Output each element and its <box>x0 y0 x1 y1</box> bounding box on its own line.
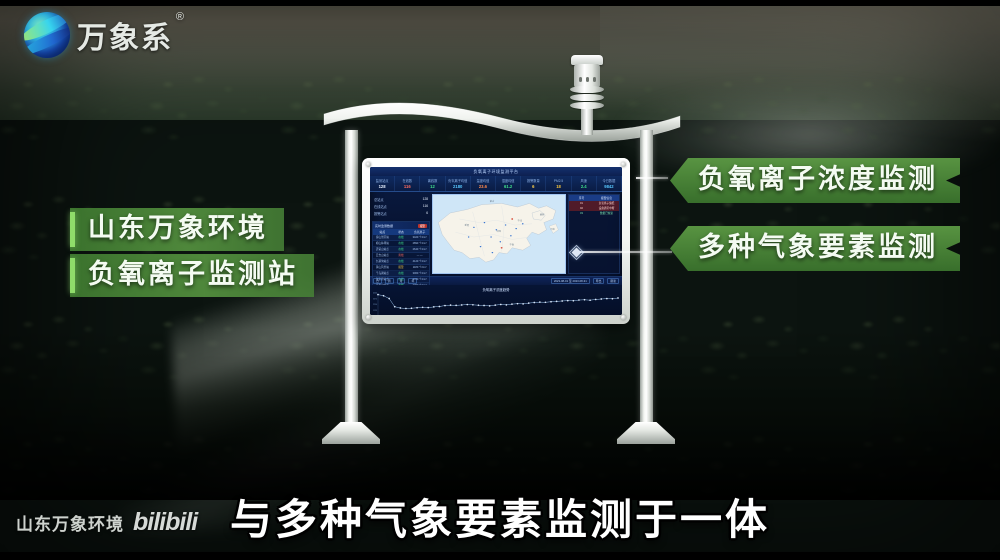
weather-sensor-icon <box>565 55 609 133</box>
range-button-month[interactable]: 月 <box>397 278 406 284</box>
table-cell: 离线 <box>392 253 411 258</box>
table-cell: 3420 个/cm³ <box>410 235 429 240</box>
date-range-display[interactable]: 2023-08-01 至 2023-08-31 <box>551 278 590 284</box>
alert-panel[interactable]: 序号报警信息 01负氧离子偏低02设备通讯中断03数据已恢复 <box>568 194 620 274</box>
kpi-value: 61.2 <box>504 184 512 189</box>
callout-right-1-text: 负氧离子浓度监测 <box>698 166 938 193</box>
kpi-label: 在线数 <box>403 178 413 183</box>
kpi-stat: PM2.518 <box>546 176 571 191</box>
svg-text:3375: 3375 <box>373 298 377 300</box>
callout-connector-top <box>636 177 668 179</box>
summary-metric-row: 在线站点116 <box>374 204 428 209</box>
svg-text:4500: 4500 <box>373 293 377 295</box>
table-cell: 在线 <box>392 259 411 264</box>
table-cell: 2890 个/cm³ <box>410 241 429 246</box>
range-button-week[interactable]: 周 <box>385 278 394 284</box>
callout-right-2-text: 多种气象要素监测 <box>698 234 938 261</box>
svg-text:2250: 2250 <box>373 304 377 306</box>
kpi-label: 湿度均值 <box>502 178 515 183</box>
kpi-label: 负氧离子均值 <box>448 178 467 183</box>
kpi-label: 报警数量 <box>527 178 540 183</box>
alert-cell: 03 <box>569 211 594 216</box>
sensor-vent <box>593 77 596 82</box>
callout-left-1-text: 山东万象环境 <box>88 215 268 242</box>
kpi-stat: 风速2.4 <box>572 176 597 191</box>
map-marker-node[interactable] <box>571 247 582 258</box>
table-cell: 在线 <box>392 271 411 276</box>
screw-icon <box>621 162 626 167</box>
bottom-shadow <box>0 330 1000 500</box>
table-cell: 千岛湖站点 <box>373 271 392 276</box>
kpi-value: 128 <box>379 184 386 189</box>
callout-right-1: 负氧离子浓度监测 <box>670 158 960 203</box>
table-cell: 九寨沟站点 <box>373 259 392 264</box>
kpi-stat: 负氧离子均值2180 <box>446 176 471 191</box>
callout-left-2: 负氧离子监测站 <box>70 254 314 297</box>
table-cell: 黄山风景站 <box>373 265 392 270</box>
table-cell: 3060 个/cm³ <box>410 271 429 276</box>
table-cell: 云台山站点 <box>373 253 392 258</box>
kpi-label: 监测站点 <box>376 178 389 183</box>
kpi-value: 6 <box>532 184 534 189</box>
kpi-stat: 今日数据9842 <box>597 176 622 191</box>
kpi-stat-bar: 监测站点128在线数116离线数12负氧离子均值2180温度均值23.6湿度均值… <box>370 176 622 192</box>
trend-chart[interactable]: 负氧离子浓度趋势 08-0108-0208-0308-0408-0508-060… <box>370 285 622 315</box>
trademark-symbol: ® <box>176 11 186 23</box>
sensor-vent <box>579 77 582 82</box>
kpi-stat: 在线数116 <box>395 176 420 191</box>
alert-row[interactable]: 03数据已恢复 <box>569 211 619 216</box>
sensor-stem <box>581 109 593 135</box>
sensor-body <box>574 64 600 88</box>
kpi-value: 12 <box>430 184 435 189</box>
table-cell: 泰山景区站 <box>373 235 392 240</box>
sensor-shield-ring <box>570 102 604 109</box>
kpi-label: 今日数据 <box>603 178 616 183</box>
summary-metric-row: 报警站点6 <box>374 211 428 216</box>
letterbox-top <box>0 0 1000 6</box>
table-cell: — — <box>410 253 429 258</box>
callout-accent-bar <box>70 258 75 293</box>
support-pole-right <box>640 130 653 430</box>
canopy-beam <box>322 96 682 152</box>
screw-icon <box>621 315 626 320</box>
callout-right-2: 多种气象要素监测 <box>670 226 960 271</box>
callout-connector-middle <box>580 251 672 253</box>
kpi-stat: 湿度均值61.2 <box>496 176 521 191</box>
station-table-title: 实时监测数据 <box>375 224 393 228</box>
export-button[interactable]: 导出 <box>593 278 605 284</box>
table-cell: 沂蒙山站点 <box>373 247 392 252</box>
watermark: 山东万象环境 bilibili <box>16 508 197 537</box>
table-cell: 4120 个/cm³ <box>410 259 429 264</box>
refresh-button[interactable]: 刷新 <box>607 278 619 284</box>
kpi-label: PM2.5 <box>554 179 563 183</box>
table-cell: 2640 个/cm³ <box>410 247 429 252</box>
kpi-value: 116 <box>404 184 411 189</box>
kpi-stat: 温度均值23.6 <box>471 176 496 191</box>
dashboard-title-bar: 负氧离子环境监测平台 <box>370 167 622 176</box>
bilibili-logo: bilibili <box>133 508 197 537</box>
kpi-value: 2.4 <box>581 184 587 189</box>
callout-left-1: 山东万象环境 <box>70 208 284 251</box>
kpi-label: 离线数 <box>428 178 438 183</box>
kpi-stat: 报警数量6 <box>521 176 546 191</box>
table-cell: 在线 <box>392 241 411 246</box>
callout-accent-bar <box>70 212 75 247</box>
dashboard-body: 总站点128在线站点116报警站点6 实时监测数据 报警 站点状态负氧离子 泰山… <box>370 192 622 276</box>
table-cell: 在线 <box>392 235 411 240</box>
callout-right-1-banner: 负氧离子浓度监测 <box>670 158 960 203</box>
video-frame: 万象系 ® <box>0 0 1000 560</box>
sensor-shield-ring <box>570 94 604 101</box>
sensor-shield-ring <box>570 86 604 93</box>
range-button-day[interactable]: 日 <box>373 278 382 284</box>
kpi-value: 18 <box>556 184 561 189</box>
globe-icon <box>24 12 70 58</box>
table-cell: 报警 <box>392 265 411 270</box>
kpi-value: 23.6 <box>479 184 487 189</box>
callout-left-2-text: 负氧离子监测站 <box>88 261 298 288</box>
support-pole-left <box>345 130 358 430</box>
kpi-stat: 离线数12 <box>420 176 445 191</box>
brand-logo-label: 万象系 <box>77 22 173 55</box>
brand-logo-text: 万象系 ® <box>77 13 173 57</box>
chart-toolbar[interactable]: 日 周 月 年 2023-08-01 至 2023-08-31 导出 刷新 <box>370 276 622 285</box>
callout-right-2-banner: 多种气象要素监测 <box>670 226 960 271</box>
summary-metrics: 总站点128在线站点116报警站点6 <box>372 194 430 219</box>
kpi-value: 9842 <box>604 184 613 189</box>
svg-text:1125: 1125 <box>373 310 377 312</box>
left-column: 总站点128在线站点116报警站点6 实时监测数据 报警 站点状态负氧离子 泰山… <box>372 194 430 274</box>
alert-badge: 报警 <box>418 224 427 228</box>
watermark-account: 山东万象环境 <box>16 510 124 535</box>
summary-metric-row: 总站点128 <box>374 197 428 202</box>
china-map[interactable]: 全国站点分布 蒙古 <box>432 194 566 274</box>
kpi-value: 2180 <box>453 184 462 189</box>
kpi-label: 风速 <box>581 178 587 183</box>
sensor-vent <box>586 77 589 82</box>
dashboard-screen[interactable]: 负氧离子环境监测平台 监测站点128在线数116离线数12负氧离子均值2180温… <box>370 167 622 315</box>
station-table-caption: 实时监测数据 报警 <box>373 222 429 229</box>
kpi-stat: 监测站点128 <box>370 176 395 191</box>
brand-logo: 万象系 ® <box>24 12 173 58</box>
range-button-year[interactable]: 年 <box>408 278 417 284</box>
display-panel[interactable]: 负氧离子环境监测平台 监测站点128在线数116离线数12负氧离子均值2180温… <box>362 158 630 324</box>
dashboard-title: 负氧离子环境监测平台 <box>474 169 519 175</box>
table-cell: 崂山林场站 <box>373 241 392 246</box>
screw-icon <box>366 315 371 320</box>
kpi-label: 温度均值 <box>477 178 490 183</box>
table-cell: 1180 个/cm³ <box>410 265 429 270</box>
table-cell: 在线 <box>392 247 411 252</box>
alert-cell: 数据已恢复 <box>594 211 619 216</box>
letterbox-bottom <box>0 552 1000 560</box>
alert-rows[interactable]: 01负氧离子偏低02设备通讯中断03数据已恢复 <box>569 201 619 216</box>
